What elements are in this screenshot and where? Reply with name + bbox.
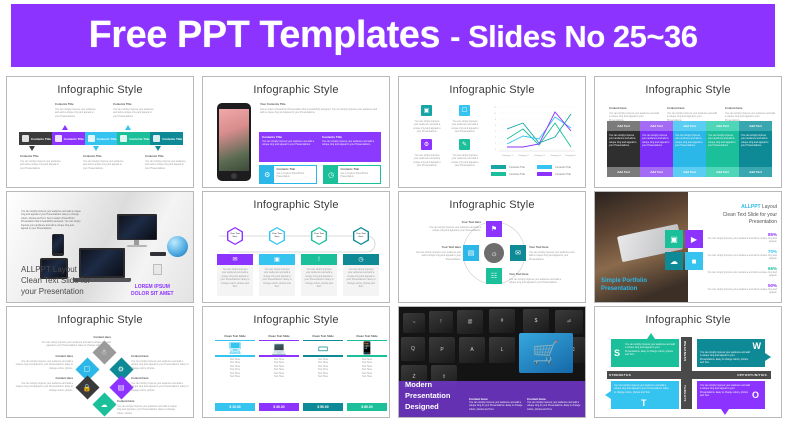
flag-icon: ⚑: [491, 225, 497, 233]
slide-thumbnail-6[interactable]: Infographic Style Your Text Here Your Te…: [202, 191, 390, 303]
content-card-4[interactable]: ◷ You can simply impress your audience a…: [343, 254, 379, 296]
slide-title: Infographic Style: [399, 199, 585, 211]
column-header: Clean Text Slide: [347, 335, 387, 339]
card-body: You can simply impress your audience and…: [527, 401, 581, 411]
column-body: You can simply impress your audience and…: [708, 134, 737, 148]
callout-title: Contents Title: [55, 103, 74, 107]
buy-button-1[interactable]: $ 10.00: [215, 403, 255, 411]
node-title: Your Text Here: [509, 273, 528, 277]
column-head: Add Text: [650, 124, 663, 128]
heading-line-2: Presentation: [405, 391, 450, 402]
card-body: You can simply impress your audience and…: [469, 401, 523, 411]
slide-title: Infographic Style: [7, 314, 193, 326]
legend-swatch: [491, 172, 506, 176]
globe-icon: ☼: [484, 243, 504, 263]
globe-icon: [167, 236, 188, 257]
callout-title: Content Here: [609, 107, 627, 111]
column-head: Add Text: [749, 124, 762, 128]
callout-body: You can simply impress your audience and…: [145, 160, 187, 170]
heading-line-3: Presentation: [707, 219, 777, 227]
alert-icon: !: [301, 254, 337, 265]
overlay-card-1: Content Here You can simply impress your…: [469, 397, 523, 411]
pricing-column-1[interactable]: Clean Text Slide 🖥 Text Here Text Here T…: [215, 335, 255, 379]
svg-text:Category 2: Category 2: [518, 154, 529, 157]
node-title: Your Text Here: [529, 246, 548, 250]
clock-icon: ◷: [343, 254, 379, 265]
node-body: You can simply impress your audience and…: [427, 226, 481, 233]
slide-thumbnail-12[interactable]: Infographic Style S You can simply impre…: [594, 306, 782, 418]
accent-text: LOREM IPSUM DOLOR SIT AMET: [131, 284, 174, 297]
hexagon-node-4[interactable]: Your Text Here: [353, 227, 369, 245]
heading-line-3: your Presentation: [21, 287, 90, 298]
hexagon-label: Your Text Here: [228, 233, 241, 239]
pricing-column-2[interactable]: Clean Text Slide 💻 Text Here Text Here T…: [259, 335, 299, 379]
swot-weakness[interactable]: W You can simply impress your audience a…: [697, 339, 765, 367]
phone-screen-photo: [219, 109, 249, 171]
card-body: You can simply impress your audience and…: [343, 265, 379, 292]
lead-body: Get a modern PowerPoint Presentation tha…: [260, 108, 381, 115]
user-icon: ☃: [101, 349, 107, 357]
icon-card-body: You can simply impress your audience and…: [450, 154, 480, 168]
pricing-column-3[interactable]: Clean Text Slide ▭ Text Here Text Here T…: [303, 335, 343, 379]
gear-icon: ⚙: [421, 139, 432, 150]
svg-text:12: 12: [494, 107, 497, 109]
svg-text:4: 4: [495, 137, 497, 139]
grid-icon: [22, 135, 29, 142]
callout-body: You can simply impress your audience and…: [113, 108, 155, 118]
node-body: You can simply impress your audience and…: [413, 251, 461, 261]
content-card-2[interactable]: ▣ You can simply impress your audience a…: [259, 254, 295, 296]
marker-up-icon: [125, 125, 131, 130]
callout-title: Content Here: [131, 355, 149, 359]
diamond-6[interactable]: ☁: [92, 392, 116, 416]
heading-rest: Layout: [761, 204, 777, 210]
accent-line-1: LOREM IPSUM: [131, 284, 174, 291]
column-head: Add Text: [716, 124, 729, 128]
bottom-card-2[interactable]: ◷ Contents Title Get a modern PowerPoint…: [323, 165, 381, 184]
overlay-line-1: Simple Portfolio: [601, 277, 647, 285]
stat-body: You can simply impress your audience and…: [707, 271, 777, 278]
cell: Text Here: [215, 375, 255, 378]
column-header: Clean Text Slide: [259, 335, 299, 339]
slide-thumbnail-3[interactable]: Infographic Style ▣ You can simply impre…: [398, 76, 586, 188]
column-body: You can simply impress your audience and…: [642, 134, 671, 148]
callout-body: You can simply impress your audience and…: [39, 341, 111, 348]
hexagon-label: Your Text Here: [354, 233, 367, 239]
slide-title: Infographic Style: [7, 84, 193, 96]
page-banner: Free PPT Templates - Slides No 25~36: [11, 4, 775, 67]
callout-body: You can simply impress your audience and…: [15, 382, 73, 392]
slide-thumbnail-10[interactable]: Infographic Style Clean Text Slide 🖥 Tex…: [202, 306, 390, 418]
card-body: You can simply impress your audience and…: [259, 265, 295, 292]
hexagon-label: Your Text Here: [270, 233, 283, 239]
hexagon-label: Your Text Here: [312, 233, 325, 239]
marker-down-icon: [155, 146, 161, 151]
segment-label: Contents Title: [162, 137, 182, 141]
callout-title: Contents Title: [113, 103, 132, 107]
legend-label: Contents Title: [509, 173, 525, 176]
card-body: You can simply impress your audience and…: [301, 265, 337, 292]
card-body: You can simply impress your audience and…: [322, 140, 376, 147]
phone-mockup: [217, 103, 251, 181]
svg-text:10: 10: [494, 113, 497, 115]
play-icon[interactable]: ▶: [685, 230, 703, 248]
callout-title: Content Here: [59, 336, 111, 340]
hexagon-node-3[interactable]: Your Text Here: [311, 227, 327, 245]
card-title: Contents Title: [322, 135, 342, 139]
book-icon: ▤: [118, 384, 125, 392]
user-icon: [153, 135, 160, 142]
column-foot: Add Text: [650, 170, 663, 174]
buy-button-4[interactable]: $ 80.00: [347, 403, 387, 411]
timeline-segment-3[interactable]: Contents Title: [85, 132, 118, 145]
legend-swatch: [537, 172, 552, 176]
column-body: You can simply impress your audience and…: [741, 134, 770, 148]
svg-text:0: 0: [495, 149, 497, 151]
swot-key: T: [641, 398, 647, 408]
timeline-segment-1[interactable]: Contents Title: [19, 132, 52, 145]
slide-title: Infographic Style: [595, 314, 781, 326]
stat-4: 50% You can simply impress your audience…: [707, 283, 777, 295]
banner-title-sub: - Slides No 25~36: [450, 19, 697, 54]
phone-icon: 📱: [347, 342, 387, 354]
stat-body: You can simply impress your audience and…: [707, 237, 777, 244]
slide-title: Infographic Style: [203, 84, 389, 96]
timeline-segment-4[interactable]: Contents Title: [117, 132, 150, 145]
slide-thumbnail-8[interactable]: Simple Portfolio Presentation ▣ ▶ ☁ ■ AL…: [594, 191, 782, 303]
callout-body: You can simply impress your audience and…: [83, 160, 125, 170]
cell: Text Here: [259, 375, 299, 378]
node-right[interactable]: ✉: [510, 245, 526, 261]
swot-body: You can simply impress your audience and…: [700, 351, 750, 365]
heading-line-3: Designed: [405, 402, 450, 413]
shopping-cart-icon: 🛒: [519, 333, 573, 373]
callout-title: Contents Title: [20, 155, 39, 159]
smartphone-device: [52, 234, 64, 256]
overlay-heading: Simple Portfolio Presentation: [601, 277, 647, 293]
slide-title: Infographic Style: [203, 314, 389, 326]
node-top[interactable]: ⚑: [486, 221, 502, 237]
overlay-line-2: Presentation: [601, 285, 647, 293]
stat-body: You can simply impress your audience and…: [707, 254, 777, 261]
column-body: You can simply impress your audience and…: [609, 134, 638, 148]
segment-label: Contents Title: [129, 137, 149, 141]
callout-body: You can simply impress your audience and…: [131, 382, 189, 392]
axis-label-bottom: THREATS: [683, 385, 687, 402]
monitor-base: [127, 245, 147, 247]
marker-down-icon: [93, 146, 99, 151]
swot-strengths[interactable]: S You can simply impress your audience a…: [611, 339, 679, 367]
card-body: Get a modern PowerPoint Presentation: [276, 172, 314, 179]
slide-thumbnail-5[interactable]: You can simply impress your audience and…: [6, 191, 194, 303]
callout-body: You can simply impress your audience and…: [20, 160, 62, 170]
slide-thumbnail-1[interactable]: Infographic Style Contents Title You can…: [6, 76, 194, 188]
callout-title: Content Here: [117, 400, 135, 404]
brand-label: ALLPPT: [741, 204, 760, 210]
heading-line-2: Clean Text Slide for: [21, 276, 90, 287]
drive-device: [153, 264, 162, 275]
svg-text:Category 3: Category 3: [534, 154, 545, 157]
column-foot: Add Text: [683, 170, 696, 174]
chevron-column-2[interactable]: Add Text You can simply impress your aud…: [640, 121, 673, 177]
legend-label: Contents Title: [555, 173, 571, 176]
button-label: $ 30.00: [273, 405, 284, 409]
timeline-bar: Contents Title Contents Title Contents T…: [19, 132, 183, 145]
laptop-icon: 💻: [259, 342, 299, 354]
svg-text:8: 8: [495, 119, 497, 121]
callout-title: Content Here: [21, 355, 73, 359]
slide-grid: Infographic Style Contents Title You can…: [6, 76, 781, 420]
banner-title-main: Free PPT Templates: [89, 14, 440, 56]
swot-opportunities[interactable]: O You can simply impress your audience a…: [697, 381, 765, 409]
icon-card-body: You can simply impress your audience and…: [412, 120, 442, 134]
node-title: Your Text Here: [453, 221, 481, 225]
svg-text:Category 4: Category 4: [550, 154, 561, 157]
svg-text:6: 6: [495, 125, 497, 127]
svg-text:Category 1: Category 1: [502, 154, 513, 157]
segment-label: Contents Title: [31, 137, 51, 141]
slide-title: Infographic Style: [203, 199, 389, 211]
column-foot: Add Text: [716, 170, 729, 174]
overlay-card-2: Content Here You can simply impress your…: [527, 397, 581, 411]
column-rule: [347, 355, 387, 357]
diamond-5[interactable]: ▤: [109, 375, 133, 399]
card-body: Get a modern PowerPoint Presentation: [340, 172, 378, 179]
cell: Text Here: [303, 375, 343, 378]
column-header: Clean Text Slide: [303, 335, 343, 339]
segment-label: Contents Title: [97, 137, 117, 141]
home-button-icon: [231, 173, 237, 179]
swot-key: O: [752, 390, 759, 400]
camera-icon[interactable]: ▣: [665, 230, 683, 248]
image-icon[interactable]: ■: [685, 252, 703, 270]
callout-title: Content Here: [667, 107, 685, 111]
heading-block: ALLPPT Layout Clean Text Slide for your …: [707, 204, 777, 227]
column-rule: [215, 355, 255, 357]
node-bottom[interactable]: ☷: [486, 268, 502, 284]
cloud-icon[interactable]: ☁: [665, 252, 683, 270]
chevron-column-3[interactable]: Add Text You can simply impress your aud…: [673, 121, 706, 177]
page-root: Free PPT Templates - Slides No 25~36 Inf…: [0, 0, 786, 423]
slide-thumbnail-11[interactable]: ~ ! @ # $ ⏎ Q P A L ⌫ Z ⇧ 🛒 Modern Prese…: [398, 306, 586, 418]
svg-text:5: 5: [495, 131, 497, 133]
column-foot: Add Text: [617, 170, 630, 174]
node-left[interactable]: ▤: [463, 245, 479, 261]
marker-up-icon: [62, 125, 68, 130]
axis-label-top: WEAKNESS: [683, 341, 687, 362]
heading-block: Modern Presentation Designed: [405, 380, 450, 413]
router-device: [150, 252, 166, 256]
bottom-card-1[interactable]: ⚙ Contents Title Get a modern PowerPoint…: [259, 165, 317, 184]
monitor-icon: ▣: [259, 254, 295, 265]
node-body: You can simply impress your audience and…: [529, 251, 577, 261]
chart-icon: ▤: [468, 249, 475, 257]
gear-icon: [55, 135, 62, 142]
lock-icon: 🔒: [83, 384, 92, 392]
stat-2: 70% You can simply impress your audience…: [707, 249, 777, 261]
lock-icon: [88, 135, 95, 142]
cell: Text Here: [347, 375, 387, 378]
tablet-icon: ▭: [303, 342, 343, 354]
buy-button-3[interactable]: $ 50.00: [303, 403, 343, 411]
slide-thumbnail-2[interactable]: Infographic Style Your Contents Title Ge…: [202, 76, 390, 188]
column-head: Add Text: [617, 124, 630, 128]
stat-3: 65% You can simply impress your audience…: [707, 266, 777, 278]
pricing-column-4[interactable]: Clean Text Slide 📱 Text Here Text Here T…: [347, 335, 387, 379]
swot-body: You can simply impress your audience and…: [614, 384, 670, 394]
chat-icon: ✎: [459, 139, 470, 150]
monitor-device: [117, 214, 157, 240]
slide-title: Infographic Style: [399, 84, 585, 96]
buy-button-2[interactable]: $ 30.00: [259, 403, 299, 411]
card-title: Contents Title: [262, 135, 282, 139]
content-card-1[interactable]: ✉ You can simply impress your audience a…: [217, 254, 253, 296]
puzzle-icon: ▣: [421, 105, 432, 116]
node-title: Your Text Here: [433, 246, 461, 250]
callout-body: You can simply impress your audience and…: [131, 360, 189, 370]
svg-text:Category 5: Category 5: [565, 154, 576, 157]
svg-text:2: 2: [495, 143, 497, 145]
accent-line-2: DOLOR SIT AMET: [131, 291, 174, 298]
legend-swatch: [537, 165, 552, 169]
swot-body: You can simply impress your audience and…: [700, 384, 750, 398]
axis-label-right: OPPORTUNITIES: [737, 373, 767, 377]
callout-body: You can simply impress your audience and…: [15, 360, 73, 370]
chat-icon: ✉: [515, 249, 521, 257]
column-rule: [303, 355, 343, 357]
hexagon-node-1[interactable]: Your Text Here: [227, 227, 243, 245]
card-body: You can simply impress your audience and…: [217, 265, 253, 292]
column-header: Clean Text Slide: [215, 335, 255, 339]
cloud-icon: ☁: [101, 401, 108, 409]
heading-text: ALLPPT Layout Clean Text Slide for your …: [21, 265, 90, 297]
slide-thumbnail-4[interactable]: Infographic Style Content Here You can s…: [594, 76, 782, 188]
timeline-segment-2[interactable]: Contents Title: [52, 132, 85, 145]
chevron-column-5[interactable]: Add Text You can simply impress your aud…: [739, 121, 772, 177]
slide-title: Infographic Style: [595, 84, 781, 96]
segment-label: Contents Title: [64, 137, 84, 141]
button-label: $ 10.00: [229, 405, 240, 409]
callout-title: Contents Title: [145, 155, 164, 159]
banner-title: Free PPT Templates - Slides No 25~36: [89, 14, 698, 57]
callout-title: Contents Title: [83, 155, 102, 159]
hexagon-node-2[interactable]: Your Text Here: [269, 227, 285, 245]
purple-content-panel: Contents Title You can simply impress yo…: [259, 132, 381, 162]
marker-down-icon: [29, 146, 35, 151]
callout-title: Content Here: [21, 377, 73, 381]
folder-icon: ☷: [491, 272, 497, 280]
phone-icon: ☐: [84, 366, 90, 374]
card-body: You can simply impress your audience and…: [262, 140, 316, 147]
button-label: $ 50.00: [317, 405, 328, 409]
heading-line-2: Clean Text Slide for your: [707, 212, 777, 220]
column-rule: [259, 355, 299, 357]
legend-label: Contents Title: [555, 166, 571, 169]
callout-body: You can simply impress your audience and…: [55, 108, 97, 118]
content-card-3[interactable]: ! You can simply impress your audience a…: [301, 254, 337, 296]
column-body: You can simply impress your audience and…: [675, 134, 704, 148]
column-foot: Add Text: [749, 170, 762, 174]
heading-line-1: ALLPPT Layout: [21, 265, 90, 276]
callout-title: Content Here: [725, 107, 743, 111]
callout-title: Content Here: [131, 377, 149, 381]
slide-thumbnail-9[interactable]: Infographic Style ☃ ☐ ⚙ 🔒 ▤ ☁ Content He…: [6, 306, 194, 418]
node-body: You can simply impress your audience and…: [509, 278, 563, 285]
stat-1: 85% You can simply impress your audience…: [707, 232, 777, 244]
button-label: $ 80.00: [361, 405, 372, 409]
clock-icon: [120, 135, 127, 142]
heading-line-1: Modern: [405, 380, 450, 391]
chat-icon: ✉: [217, 254, 253, 265]
diamond-4[interactable]: 🔒: [75, 375, 99, 399]
column-head: Add Text: [683, 124, 696, 128]
lead-title: Your Contents Title: [260, 103, 286, 107]
line-chart: Category 1Category 2 Category 3Category …: [489, 103, 577, 161]
swot-key: S: [614, 348, 620, 358]
phone-icon: ☐: [459, 105, 470, 116]
monitor-icon: 🖥: [215, 342, 255, 354]
gear-icon: ⚙: [118, 366, 124, 374]
chevron-column-1[interactable]: Add Text You can simply impress your aud…: [607, 121, 640, 177]
callout-body: You can simply impress your audience and…: [117, 405, 177, 415]
legend-swatch: [491, 165, 506, 169]
icon-card-body: You can simply impress your audience and…: [450, 120, 480, 134]
slide-thumbnail-7[interactable]: Infographic Style ☼ ⚑ ▤ ✉ ☷ Your Text He…: [398, 191, 586, 303]
clock-icon: ◷: [324, 166, 338, 183]
swot-body: You can simply impress your audience and…: [625, 343, 675, 357]
body-text: You can simply impress your audience and…: [21, 210, 81, 231]
axis-label-left: STRENGTHS: [609, 373, 631, 377]
gear-icon: ⚙: [260, 166, 274, 183]
icon-card-body: You can simply impress your audience and…: [412, 154, 442, 168]
swot-threats[interactable]: T You can simply impress your audience a…: [611, 381, 679, 409]
legend-label: Contents Title: [509, 166, 525, 169]
chevron-column-4[interactable]: Add Text You can simply impress your aud…: [706, 121, 739, 177]
timeline-segment-5[interactable]: Contents Title: [150, 132, 183, 145]
swot-key: W: [753, 341, 762, 351]
stat-body: You can simply impress your audience and…: [707, 288, 777, 295]
